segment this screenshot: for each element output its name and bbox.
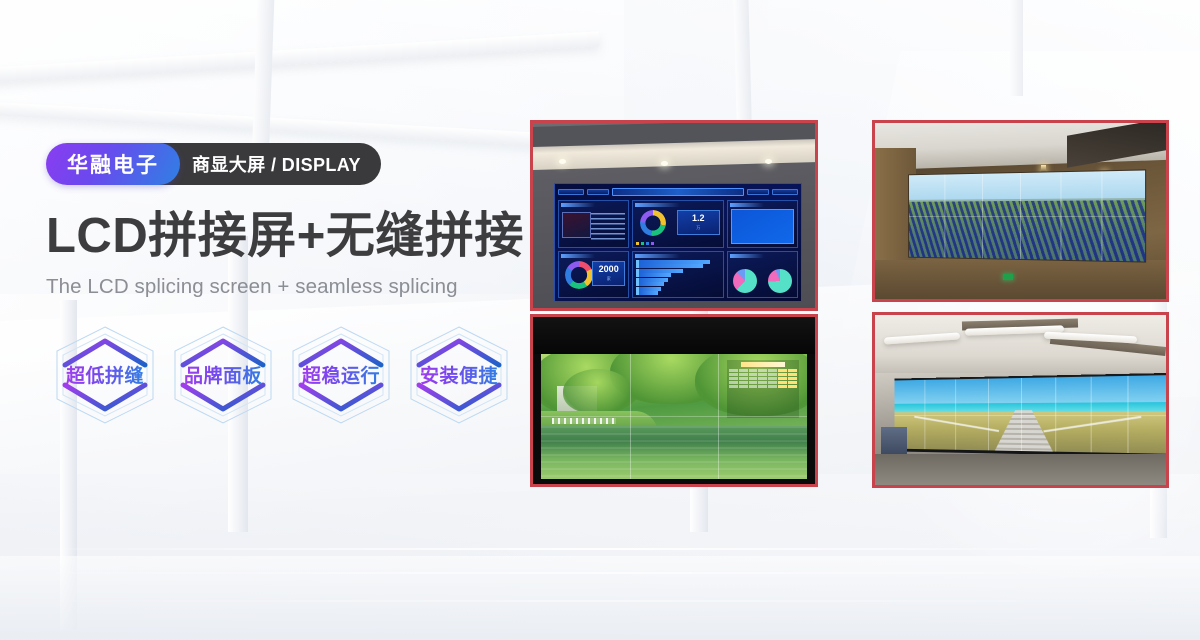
page-subtitle: The LCD splicing screen + seamless splic… — [46, 275, 516, 299]
exit-sign-icon — [1003, 274, 1013, 280]
floor-line-3 — [0, 600, 1200, 602]
brand-tag: 华融电子 商显大屏 / DISPLAY — [46, 143, 381, 185]
feature-label-2: 品牌面板 — [184, 361, 262, 388]
dashboard-panel-donut-count: 2000 家 — [558, 251, 629, 299]
video-wall-screen — [908, 170, 1146, 263]
donut-chart — [640, 210, 666, 236]
top-bezel — [533, 317, 815, 354]
dashboard-title-bar — [612, 188, 744, 196]
metric-value: 2000 — [599, 265, 619, 274]
ceiling-spotlight — [661, 161, 668, 166]
dashboard-panel-pie-charts — [727, 251, 798, 299]
nav-tab — [772, 189, 798, 195]
foreground-object — [881, 427, 907, 454]
ceiling-spotlight — [559, 159, 566, 164]
dashboard-panel-bar-chart — [632, 251, 723, 299]
page-title: LCD拼接屏+无缝拼接 — [46, 210, 516, 263]
feature-badge-3: 超稳运行 — [284, 323, 398, 427]
ceiling-spotlight — [765, 159, 772, 164]
feature-label-1: 超低拼缝 — [66, 361, 144, 388]
feature-label-3: 超稳运行 — [302, 361, 380, 388]
nav-tab — [558, 189, 584, 195]
feature-list: 超低拼缝 品牌面板 — [48, 323, 516, 427]
donut-chart — [565, 261, 593, 289]
dashboard-screen: 1.2 万 — [554, 183, 802, 302]
white-railing — [552, 418, 616, 424]
video-wall-screen — [894, 373, 1166, 457]
metric-unit: 万 — [696, 225, 700, 231]
dashboard-panels: 1.2 万 — [558, 200, 798, 298]
nav-tab — [747, 189, 769, 194]
willow-tree — [563, 369, 632, 414]
horizontal-bar-chart — [636, 260, 719, 296]
ceiling-beam-vertical-3 — [1010, 0, 1023, 96]
dashboard-navbar — [558, 187, 798, 197]
dashboard-panel-donut-metric: 1.2 万 — [632, 200, 723, 248]
photo-dashboard-video-wall: 1.2 万 — [530, 120, 818, 311]
calendar-header — [741, 362, 786, 367]
feature-badge-2: 品牌面板 — [166, 323, 280, 427]
photo-beach-video-wall — [872, 312, 1169, 488]
video-wall-screen — [541, 354, 806, 479]
wood-panel-bottom — [875, 260, 1166, 299]
metric-unit: 家 — [607, 276, 611, 282]
brand-name-pill: 华融电子 — [46, 143, 180, 185]
feature-label-4: 安装便捷 — [420, 361, 498, 388]
calendar-widget — [727, 360, 799, 418]
product-banner: 华融电子 商显大屏 / DISPLAY LCD拼接屏+无缝拼接 The LCD … — [0, 0, 1200, 640]
flow-diagram — [731, 209, 794, 244]
nav-tab — [587, 189, 609, 194]
photo-garden-video-wall — [530, 314, 818, 487]
lake-water — [541, 426, 806, 479]
calendar-grid — [729, 369, 797, 388]
feature-badge-1: 超低拼缝 — [48, 323, 162, 427]
metric-card: 1.2 万 — [677, 210, 720, 235]
metric-card: 2000 家 — [592, 261, 625, 286]
pie-chart — [768, 269, 792, 293]
dashboard-panel-flow-diagram — [727, 200, 798, 248]
feature-badge-4: 安装便捷 — [402, 323, 516, 427]
solar-panel-field — [908, 200, 1146, 263]
pie-chart — [733, 269, 757, 293]
copy-column: 华融电子 商显大屏 / DISPLAY LCD拼接屏+无缝拼接 The LCD … — [46, 143, 516, 427]
photo-solar-farm-video-wall — [872, 120, 1169, 302]
metric-value: 1.2 — [692, 214, 705, 223]
pie-chart-group — [728, 269, 797, 293]
dashboard-panel-intro — [558, 200, 629, 248]
lobby-floor — [875, 454, 1166, 485]
